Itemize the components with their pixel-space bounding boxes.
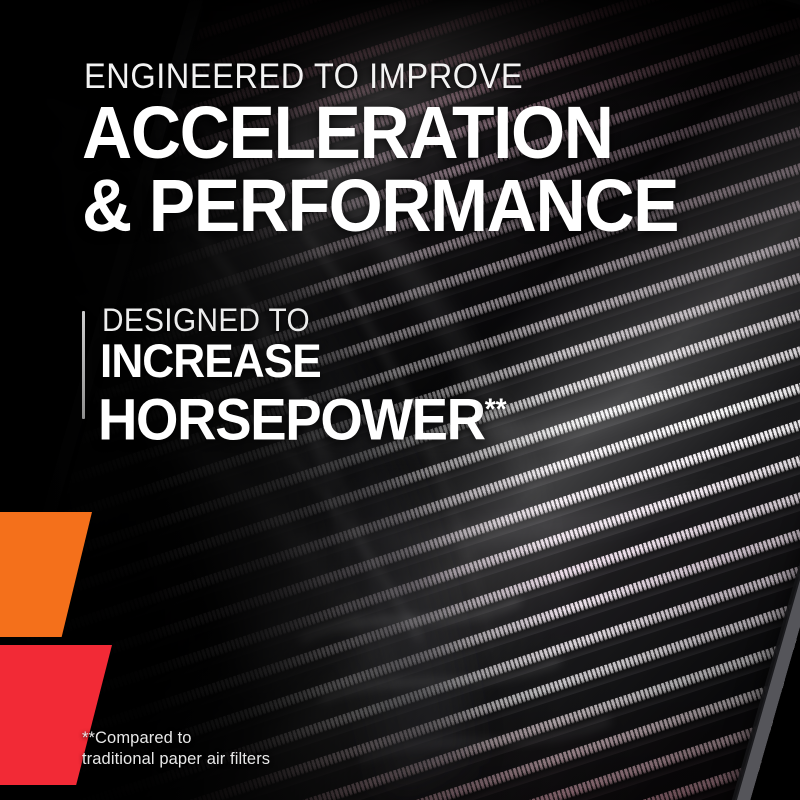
headline-line-2: & PERFORMANCE — [82, 169, 759, 242]
sub-headline-word: HORSEPOWER — [98, 387, 485, 452]
sub-headline-line-1: INCREASE — [100, 336, 321, 385]
main-headline: ACCELERATION & PERFORMANCE — [82, 96, 759, 242]
footnote-line-1: **Compared to — [82, 728, 270, 749]
sub-headline-line-2: HORSEPOWER** — [98, 380, 507, 450]
footnote-line-2: traditional paper air filters — [82, 749, 270, 770]
footnote-marker: ** — [485, 393, 507, 426]
headline-line-1: ACCELERATION — [82, 96, 759, 169]
footnote: **Compared to traditional paper air filt… — [82, 728, 270, 770]
accent-rule — [82, 311, 85, 419]
poster-canvas: ENGINEERED TO IMPROVE ACCELERATION & PER… — [0, 0, 800, 800]
sub-eyebrow-text: DESIGNED TO — [102, 303, 310, 338]
